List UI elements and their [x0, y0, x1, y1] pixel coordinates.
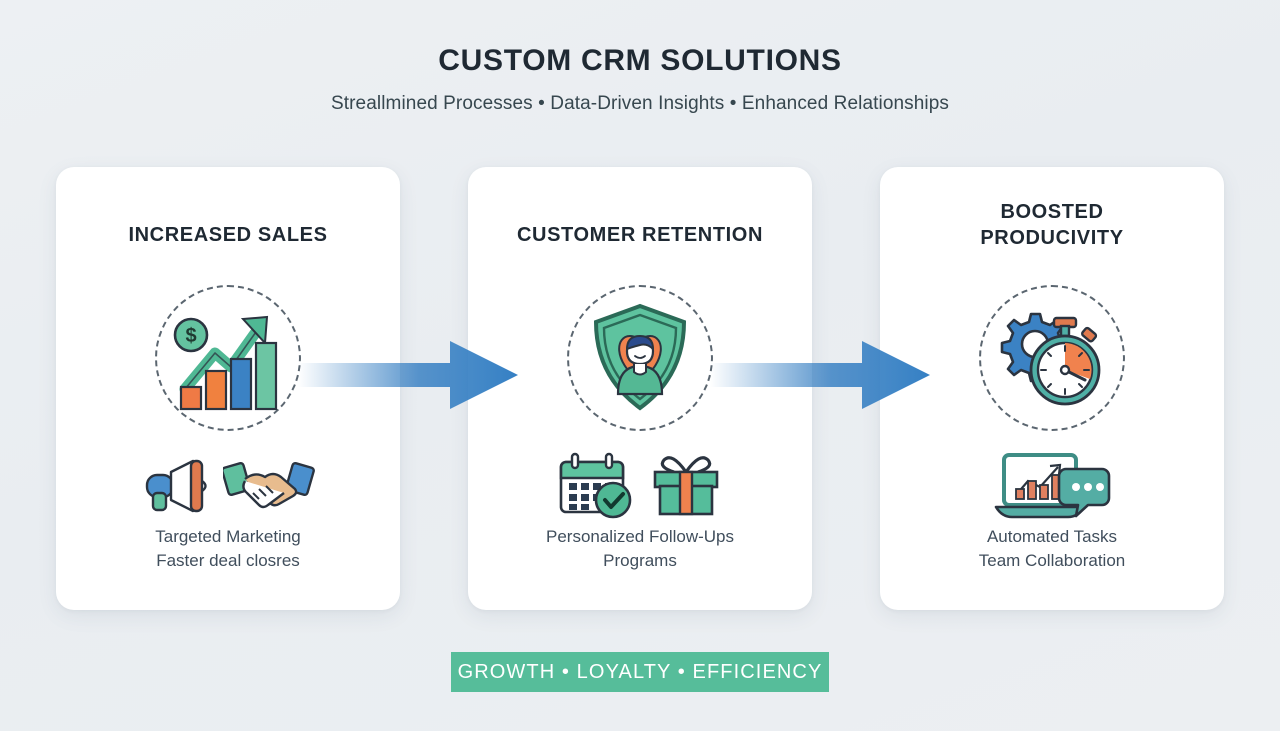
card-boosted-producivity[interactable]: BOOSTED PRODUCIVITY [880, 167, 1224, 610]
card-title-customer-retention: CUSTOMER RETENTION [468, 222, 812, 248]
page-title: CUSTOM CRM SOLUTIONS [0, 44, 1280, 78]
caption-line-2: Faster deal closres [56, 549, 400, 573]
growth-chart-icon: $ [169, 303, 287, 413]
card-title-line-1: BOOSTED [880, 199, 1224, 225]
card-caption-boosted-producivity: Automated Tasks Team Collaboration [880, 525, 1224, 573]
gift-box-icon [647, 452, 725, 520]
gear-stopwatch-icon [993, 302, 1111, 414]
laptop-chart-chat-icon [988, 451, 1116, 521]
card-caption-increased-sales: Targeted Marketing Faster deal closres [56, 525, 400, 573]
hero-icon-wrap-increased-sales: $ [155, 285, 301, 431]
flow-arrow-2 [710, 337, 930, 413]
header: CUSTOM CRM SOLUTIONS Streallmined Proces… [0, 44, 1280, 115]
card-title-boosted-producivity: BOOSTED PRODUCIVITY [880, 199, 1224, 252]
caption-line-1: Targeted Marketing [56, 525, 400, 549]
sub-icons-increased-sales [56, 450, 400, 522]
flow-arrow-1 [298, 337, 518, 413]
caption-line-1: Personalized Follow-Ups [468, 525, 812, 549]
footer-banner-text: GROWTH • LOYALTY • EFFICIENCY [458, 661, 823, 684]
card-caption-customer-retention: Personalized Follow-Ups Programs [468, 525, 812, 573]
footer-banner: GROWTH • LOYALTY • EFFICIENCY [451, 652, 829, 692]
caption-line-2: Programs [468, 549, 812, 573]
handshake-icon [223, 455, 315, 517]
hero-icon-wrap-customer-retention [567, 285, 713, 431]
caption-line-2: Team Collaboration [880, 549, 1224, 573]
card-title-line-2: PRODUCIVITY [880, 225, 1224, 251]
svg-text:$: $ [185, 325, 196, 347]
sub-icons-boosted-producivity [880, 450, 1224, 522]
card-title-increased-sales: INCREASED SALES [56, 222, 400, 248]
calendar-check-icon [555, 452, 639, 520]
sub-icons-customer-retention [468, 450, 812, 522]
megaphone-icon [141, 455, 215, 517]
cards-row: INCREASED SALES $ [0, 167, 1280, 610]
shield-heart-person-icon [588, 302, 692, 414]
page-subtitle: Streallmined Processes • Data-Driven Ins… [0, 93, 1280, 115]
caption-line-1: Automated Tasks [880, 525, 1224, 549]
hero-icon-wrap-boosted-producivity [979, 285, 1125, 431]
infographic-canvas: CUSTOM CRM SOLUTIONS Streallmined Proces… [0, 0, 1280, 731]
